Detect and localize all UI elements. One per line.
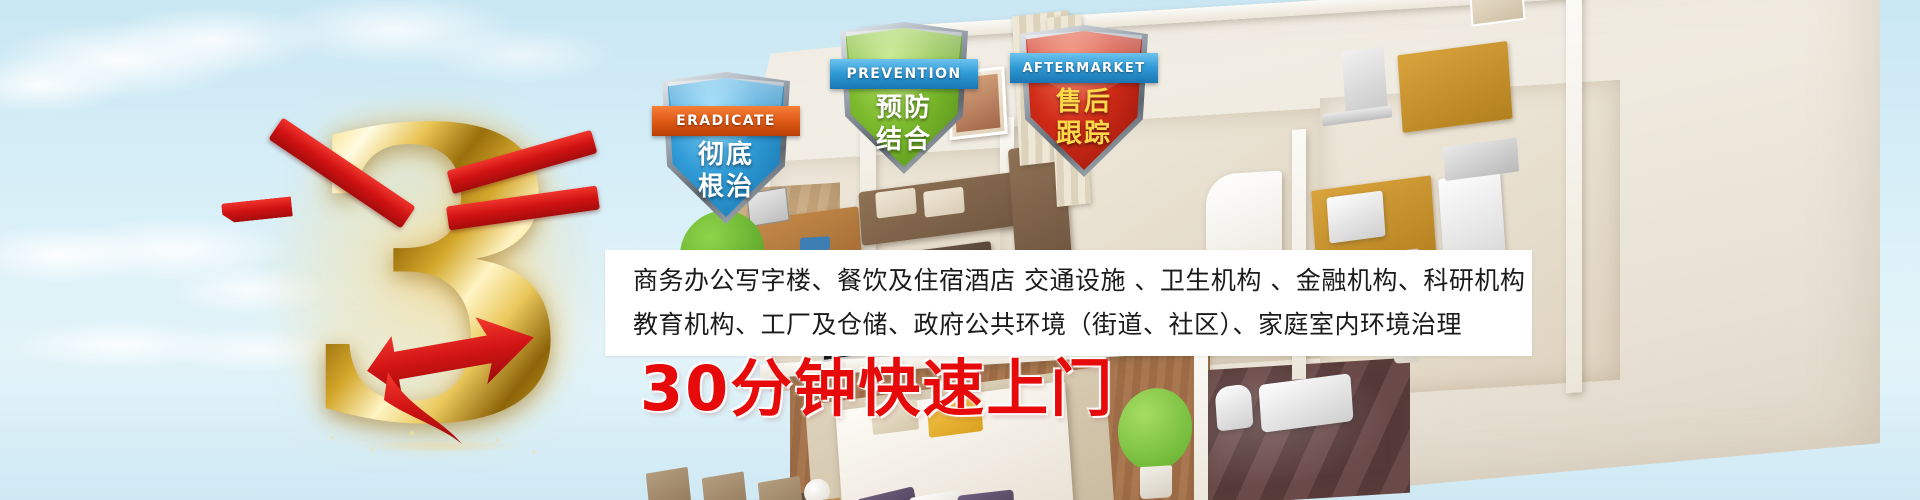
dining-chair-2 <box>702 471 749 500</box>
hero-number-glow <box>262 98 602 458</box>
service-scope-line-2: 教育机构、工厂及仓储、政府公共环境（街道、社区）、家庭室内环境治理 <box>633 303 1532 347</box>
shield-chinese-line1: 售后 <box>1020 87 1148 118</box>
bed-pillow-1 <box>856 486 918 500</box>
shield-chinese-line1: 彻底 <box>662 140 790 171</box>
sofa-cushion-b <box>923 187 965 218</box>
promo-banner: 3 ERADICATE 彻底 根治 P <box>0 0 1920 500</box>
oven <box>1326 190 1385 243</box>
dining-chair-1 <box>646 467 693 500</box>
shield-rim <box>662 72 790 224</box>
hero-ribbon-right2 <box>446 186 600 231</box>
plant-leaves-4 <box>1118 386 1192 473</box>
shield-chinese-line1: 预防 <box>840 93 968 124</box>
kitchen-upper-cabinet <box>1397 41 1512 133</box>
sofa-main <box>858 170 1031 246</box>
study-monitor <box>746 187 789 227</box>
shield-rim <box>840 22 968 174</box>
plant-pot-4 <box>1140 465 1172 499</box>
shield-sash: ERADICATE <box>652 106 800 136</box>
wall-art-square <box>1469 0 1526 27</box>
shield-gloss <box>1026 31 1142 101</box>
wall-living-div <box>1000 117 1014 228</box>
hero-ribbon-upper <box>268 117 415 228</box>
picture-artwork <box>954 74 1001 133</box>
bed-pillow-3 <box>957 489 1014 500</box>
red-arrow-icon <box>330 268 550 458</box>
dining-table <box>656 484 863 500</box>
shield-english-label: AFTERMARKET <box>1023 61 1146 76</box>
shield-chinese-line2: 结合 <box>840 125 968 156</box>
bathtub <box>1258 373 1353 433</box>
dining-chair-3 <box>758 476 805 500</box>
shield-english-label: PREVENTION <box>846 66 961 82</box>
wall-top-horiz <box>860 0 1580 42</box>
hero-number-glyph: 3 <box>232 78 632 478</box>
shield-sash: PREVENTION <box>830 59 978 89</box>
wall-right <box>1566 0 1582 393</box>
hero-ribbon-tail <box>221 196 293 223</box>
wall-picture <box>946 66 1007 140</box>
shield-face <box>668 78 784 217</box>
nightstand-lamp <box>804 478 830 500</box>
shield-gloss <box>668 78 784 148</box>
shield-gloss <box>846 28 962 98</box>
headline-text: 30分钟快速上门 <box>640 358 1114 420</box>
shield-chinese-line2: 根治 <box>662 172 790 203</box>
shield-badge-eradicate: ERADICATE 彻底 根治 <box>662 72 790 224</box>
wall-bath-div <box>1194 345 1208 500</box>
service-scope-line-1: 商务办公写字楼、餐饮及住宿酒店 交通设施 、卫生机构 、金融机构、科研机构 <box>633 259 1532 303</box>
hero-ribbon-right1 <box>447 130 598 194</box>
range-hood <box>1342 47 1389 122</box>
shield-face <box>846 28 962 167</box>
shield-face <box>1026 31 1142 170</box>
shield-badge-prevention: PREVENTION 预防 结合 <box>840 22 968 174</box>
sofa-cushion-a <box>875 188 917 219</box>
hero-sparkles <box>302 378 582 468</box>
curtain-right <box>1047 14 1091 207</box>
bed-pillow-2 <box>909 489 965 500</box>
toilet <box>1215 383 1254 431</box>
hood-duct <box>1322 105 1393 126</box>
shield-english-label: ERADICATE <box>676 113 776 129</box>
shield-chinese-line2: 跟踪 <box>1020 119 1148 150</box>
shield-badge-aftermarket: AFTERMARKET 售后 跟踪 <box>1020 25 1148 177</box>
floor-bath <box>1200 358 1410 500</box>
kitchen-sink <box>1443 138 1519 181</box>
shield-rim <box>1020 25 1148 177</box>
hero-number-3: 3 <box>232 78 632 478</box>
shield-sash: AFTERMARKET <box>1010 53 1158 83</box>
service-scope-panel: 商务办公写字楼、餐饮及住宿酒店 交通设施 、卫生机构 、金融机构、科研机构 教育… <box>605 250 1532 356</box>
curtain-left <box>1012 10 1076 166</box>
